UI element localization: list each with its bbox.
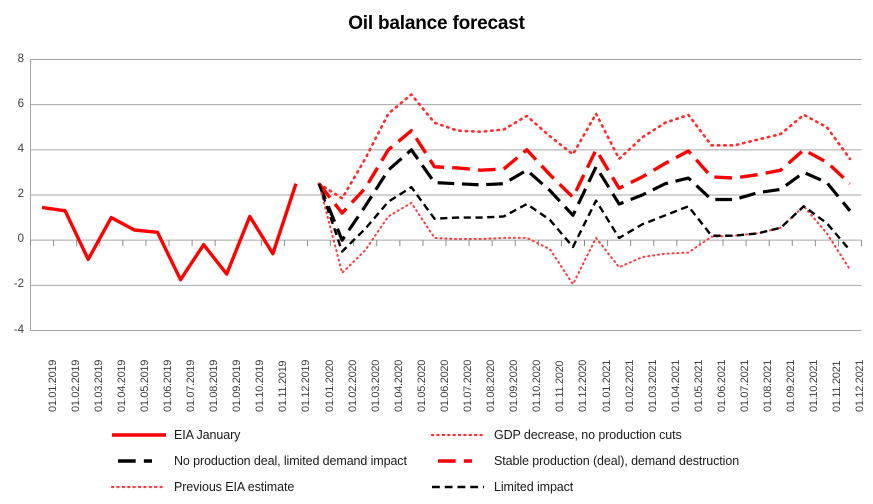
x-tick-label: 01.02.2020 [347, 360, 359, 412]
legend-item[interactable]: Limited impact [430, 474, 573, 500]
x-tick-label: 01.01.2021 [601, 360, 613, 412]
x-tick-label: 01.03.2020 [370, 360, 382, 412]
series-line-4 [319, 184, 850, 284]
x-tick-label: 01.01.2019 [47, 360, 59, 412]
x-tick-label: 01.05.2020 [416, 360, 428, 412]
y-tick-label: 2 [0, 188, 24, 200]
x-tick-label: 01.10.2019 [254, 360, 266, 412]
y-tick-label: 8 [0, 53, 24, 65]
x-tick-label: 01.12.2021 [854, 360, 866, 412]
legend-label: EIA January [174, 428, 240, 442]
legend-swatch [430, 480, 486, 494]
y-tick-label: -2 [0, 278, 24, 290]
x-tick-label: 01.12.2019 [300, 360, 312, 412]
legend-label: No production deal, limited demand impac… [174, 454, 407, 468]
series-line-1 [319, 95, 850, 199]
x-tick-label: 01.11.2019 [277, 361, 289, 412]
legend-item[interactable]: No production deal, limited demand impac… [110, 448, 407, 474]
x-tick-label: 01.09.2019 [231, 360, 243, 412]
x-tick-label: 01.06.2019 [162, 360, 174, 412]
chart-container: Oil balance forecast 86420-2-4 01.01.201… [0, 0, 873, 504]
x-tick-label: 01.10.2020 [531, 360, 543, 412]
x-tick-label: 01.09.2020 [508, 360, 520, 412]
x-tick-label: 01.02.2021 [624, 360, 636, 412]
x-tick-label: 01.11.2020 [554, 361, 566, 412]
legend-swatch [430, 428, 486, 442]
x-tick-label: 01.08.2020 [485, 360, 497, 412]
series-line-3 [319, 131, 850, 213]
legend-swatch [430, 454, 486, 468]
x-tick-label: 01.05.2021 [693, 360, 705, 412]
x-tick-label: 01.11.2021 [831, 361, 843, 412]
x-tick-label: 01.02.2019 [70, 360, 82, 412]
legend-label: Stable production (deal), demand destruc… [494, 454, 739, 468]
legend-item[interactable]: EIA January [110, 422, 240, 448]
x-tick-label: 01.06.2020 [439, 360, 451, 412]
x-tick-label: 01.07.2019 [185, 360, 197, 412]
x-tick-label: 01.04.2020 [393, 360, 405, 412]
x-tick-label: 01.03.2021 [647, 360, 659, 412]
y-tick-label: 4 [0, 143, 24, 155]
x-tick-label: 01.10.2021 [808, 360, 820, 412]
x-tick-label: 01.09.2021 [785, 360, 797, 412]
y-tick-label: 0 [0, 233, 24, 245]
x-tick-label: 01.08.2019 [208, 360, 220, 412]
legend-item[interactable]: Previous EIA estimate [110, 474, 294, 500]
chart-legend: EIA JanuaryGDP decrease, no production c… [0, 418, 873, 504]
legend-swatch [110, 428, 166, 442]
x-tick-label: 01.05.2019 [139, 360, 151, 412]
series-line-0 [42, 184, 296, 280]
x-tick-label: 01.08.2021 [762, 360, 774, 412]
legend-label: Limited impact [494, 480, 573, 494]
legend-label: GDP decrease, no production cuts [494, 428, 682, 442]
x-tick-label: 01.04.2019 [116, 360, 128, 412]
y-tick-label: -4 [0, 324, 24, 336]
legend-label: Previous EIA estimate [174, 480, 294, 494]
x-tick-label: 01.03.2019 [93, 360, 105, 412]
legend-swatch [110, 454, 166, 468]
x-tick-label: 01.07.2021 [739, 360, 751, 412]
legend-item[interactable]: Stable production (deal), demand destruc… [430, 448, 739, 474]
legend-swatch [110, 480, 166, 494]
legend-item[interactable]: GDP decrease, no production cuts [430, 422, 682, 448]
x-tick-label: 01.07.2020 [462, 360, 474, 412]
x-tick-label: 01.04.2021 [670, 360, 682, 412]
x-tick-label: 01.01.2020 [324, 360, 336, 412]
x-tick-label: 01.06.2021 [716, 360, 728, 412]
y-tick-label: 6 [0, 98, 24, 110]
x-tick-label: 01.12.2020 [577, 360, 589, 412]
